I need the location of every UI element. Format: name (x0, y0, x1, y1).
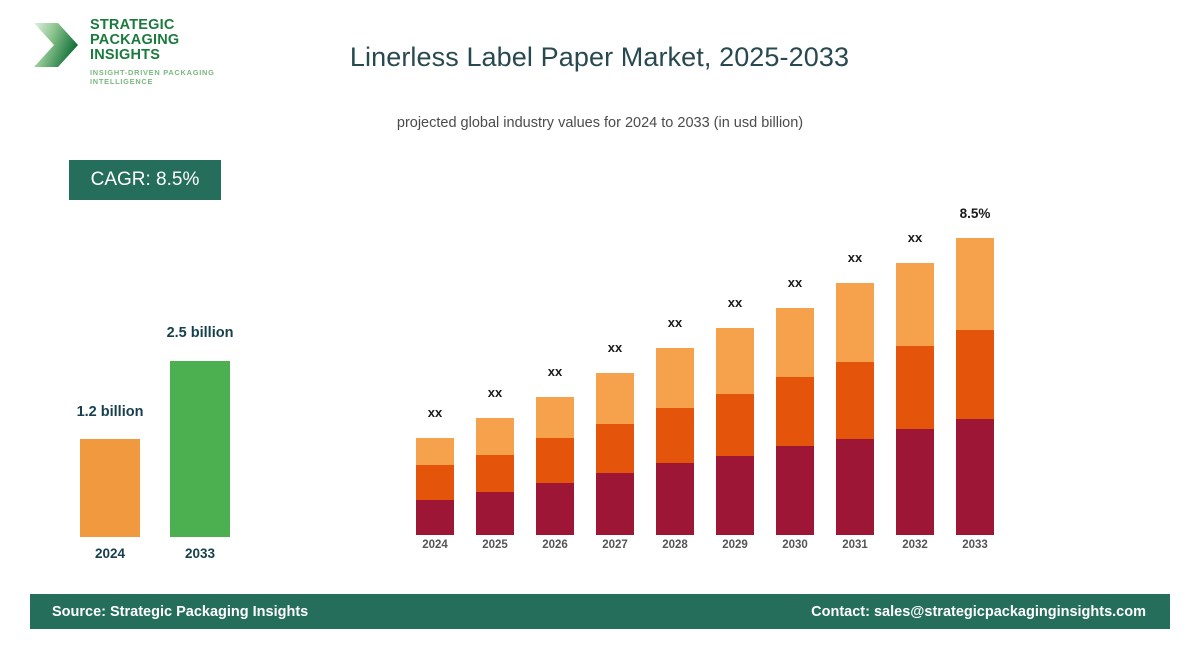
stacked-bar-2026 (536, 397, 574, 535)
bar-category-label: 2027 (585, 539, 645, 551)
bar-top-label: xx (705, 295, 765, 310)
bar-segment-middle (476, 455, 514, 492)
bar-segment-middle (536, 438, 574, 483)
projection-stacked-bar-chart: xx 2024 xx 2025 xx 2026 xx 202 (0, 0, 1200, 650)
bar-category-label: 2024 (405, 539, 465, 551)
bar-segment-middle (896, 346, 934, 429)
stacked-bar-2029 (716, 328, 754, 535)
bar-segment-bottom (836, 439, 874, 535)
bar-top-label: xx (525, 364, 585, 379)
bar-segment-middle (656, 408, 694, 463)
bar-top-label: xx (825, 250, 885, 265)
bar-top-label: xx (585, 340, 645, 355)
bar-top-label-cagr: 8.5% (945, 206, 1005, 221)
bar-segment-top (536, 397, 574, 438)
bar-segment-top (776, 308, 814, 377)
bar-segment-bottom (716, 456, 754, 535)
footer-contact[interactable]: Contact: sales@strategicpackaginginsight… (811, 604, 1146, 620)
bar-top-label: xx (465, 385, 525, 400)
stacked-bar-2024 (416, 438, 454, 535)
bar-segment-bottom (896, 429, 934, 535)
bar-segment-top (416, 438, 454, 465)
bar-category-label: 2028 (645, 539, 705, 551)
bar-segment-middle (596, 424, 634, 473)
bar-segment-bottom (536, 483, 574, 535)
bar-category-label: 2029 (705, 539, 765, 551)
bar-category-label: 2030 (765, 539, 825, 551)
bar-segment-bottom (416, 500, 454, 535)
bar-segment-top (896, 263, 934, 346)
footer-source: Source: Strategic Packaging Insights (52, 604, 308, 620)
bar-segment-middle (956, 330, 994, 419)
bar-category-label: 2031 (825, 539, 885, 551)
stacked-bar-2030 (776, 308, 814, 535)
footer-bar: Source: Strategic Packaging Insights Con… (30, 594, 1170, 629)
bar-segment-top (656, 348, 694, 408)
bar-segment-top (716, 328, 754, 394)
stacked-bar-2031 (836, 283, 874, 535)
bar-segment-bottom (476, 492, 514, 535)
bar-segment-bottom (656, 463, 694, 535)
bar-category-label: 2032 (885, 539, 945, 551)
bar-segment-top (476, 418, 514, 455)
bar-segment-bottom (776, 446, 814, 535)
stacked-bar-2028 (656, 348, 694, 535)
bar-segment-middle (836, 362, 874, 439)
stacked-bar-2025 (476, 418, 514, 535)
stacked-bar-2033 (956, 238, 994, 535)
bar-category-label: 2033 (945, 539, 1005, 551)
stacked-bar-2027 (596, 373, 634, 535)
bar-segment-middle (416, 465, 454, 500)
bar-top-label: xx (885, 230, 945, 245)
bar-top-label: xx (765, 275, 825, 290)
stacked-bar-2032 (896, 263, 934, 535)
bar-segment-middle (716, 394, 754, 456)
bar-segment-top (596, 373, 634, 424)
bar-top-label: xx (405, 405, 465, 420)
bar-segment-bottom (956, 419, 994, 535)
chart-page: STRATEGIC PACKAGING INSIGHTS INSIGHT-DRI… (0, 0, 1200, 650)
bar-segment-bottom (596, 473, 634, 535)
bar-category-label: 2025 (465, 539, 525, 551)
bar-segment-top (956, 238, 994, 330)
bar-category-label: 2026 (525, 539, 585, 551)
bar-top-label: xx (645, 315, 705, 330)
bar-segment-middle (776, 377, 814, 446)
bar-segment-top (836, 283, 874, 362)
